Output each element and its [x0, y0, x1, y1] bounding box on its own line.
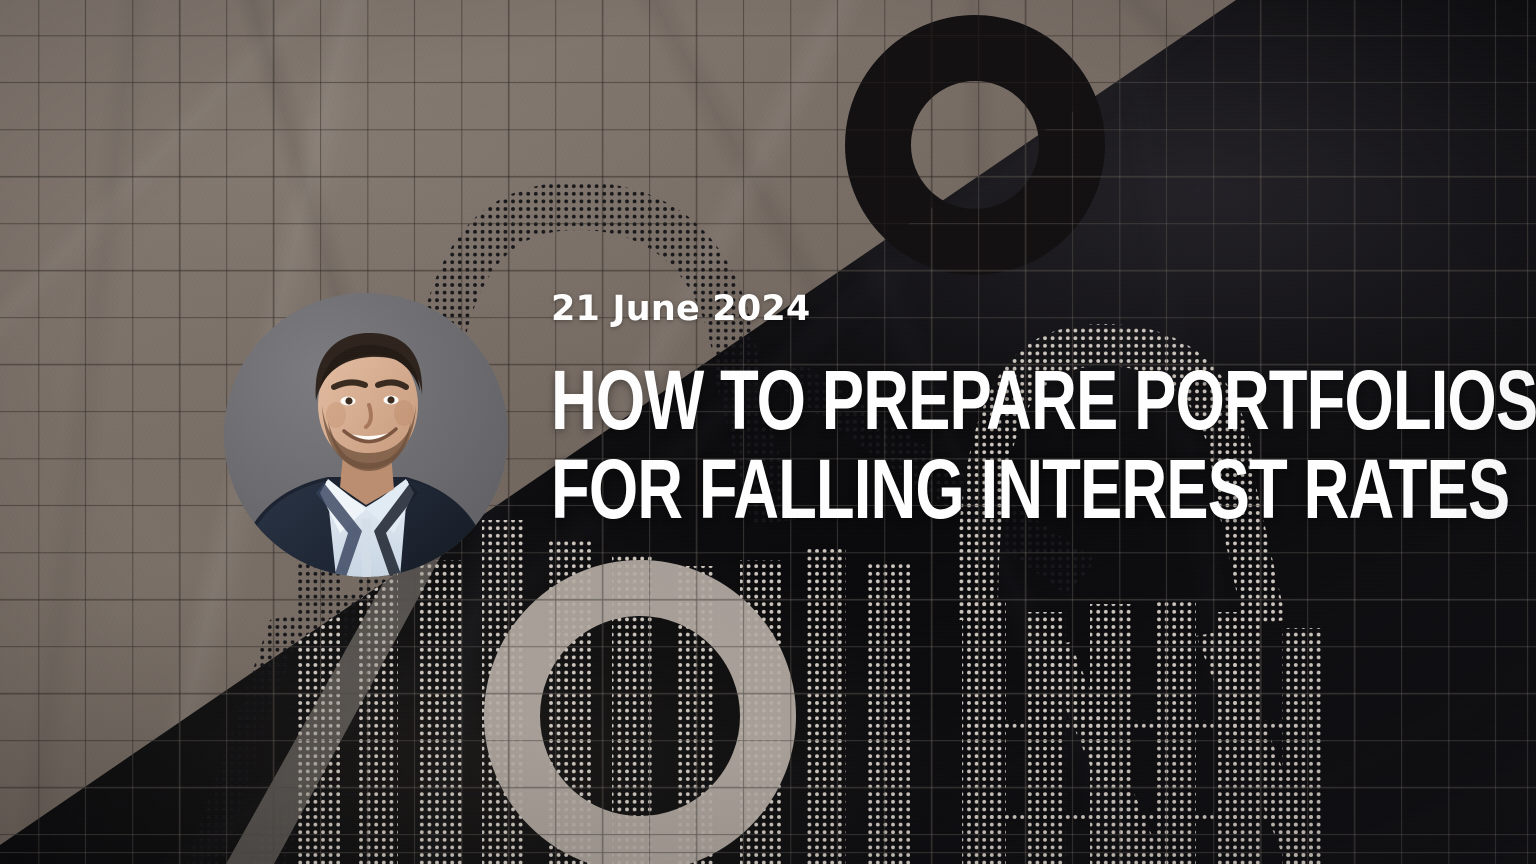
page-title: HOW TO PREPARE PORTFOLIOS FOR FALLING IN… — [551, 356, 1336, 534]
author-portrait — [224, 293, 508, 577]
banner-text-block: 21 June 2024 HOW TO PREPARE PORTFOLIOS F… — [551, 288, 1341, 534]
headline-line-2: FOR FALLING INTEREST RATES — [551, 445, 1336, 534]
publish-date: 21 June 2024 — [551, 288, 1341, 330]
hero-banner: 21 June 2024 HOW TO PREPARE PORTFOLIOS F… — [0, 0, 1536, 864]
headline-line-1: HOW TO PREPARE PORTFOLIOS — [551, 356, 1336, 445]
author-portrait-illustration — [224, 293, 508, 577]
